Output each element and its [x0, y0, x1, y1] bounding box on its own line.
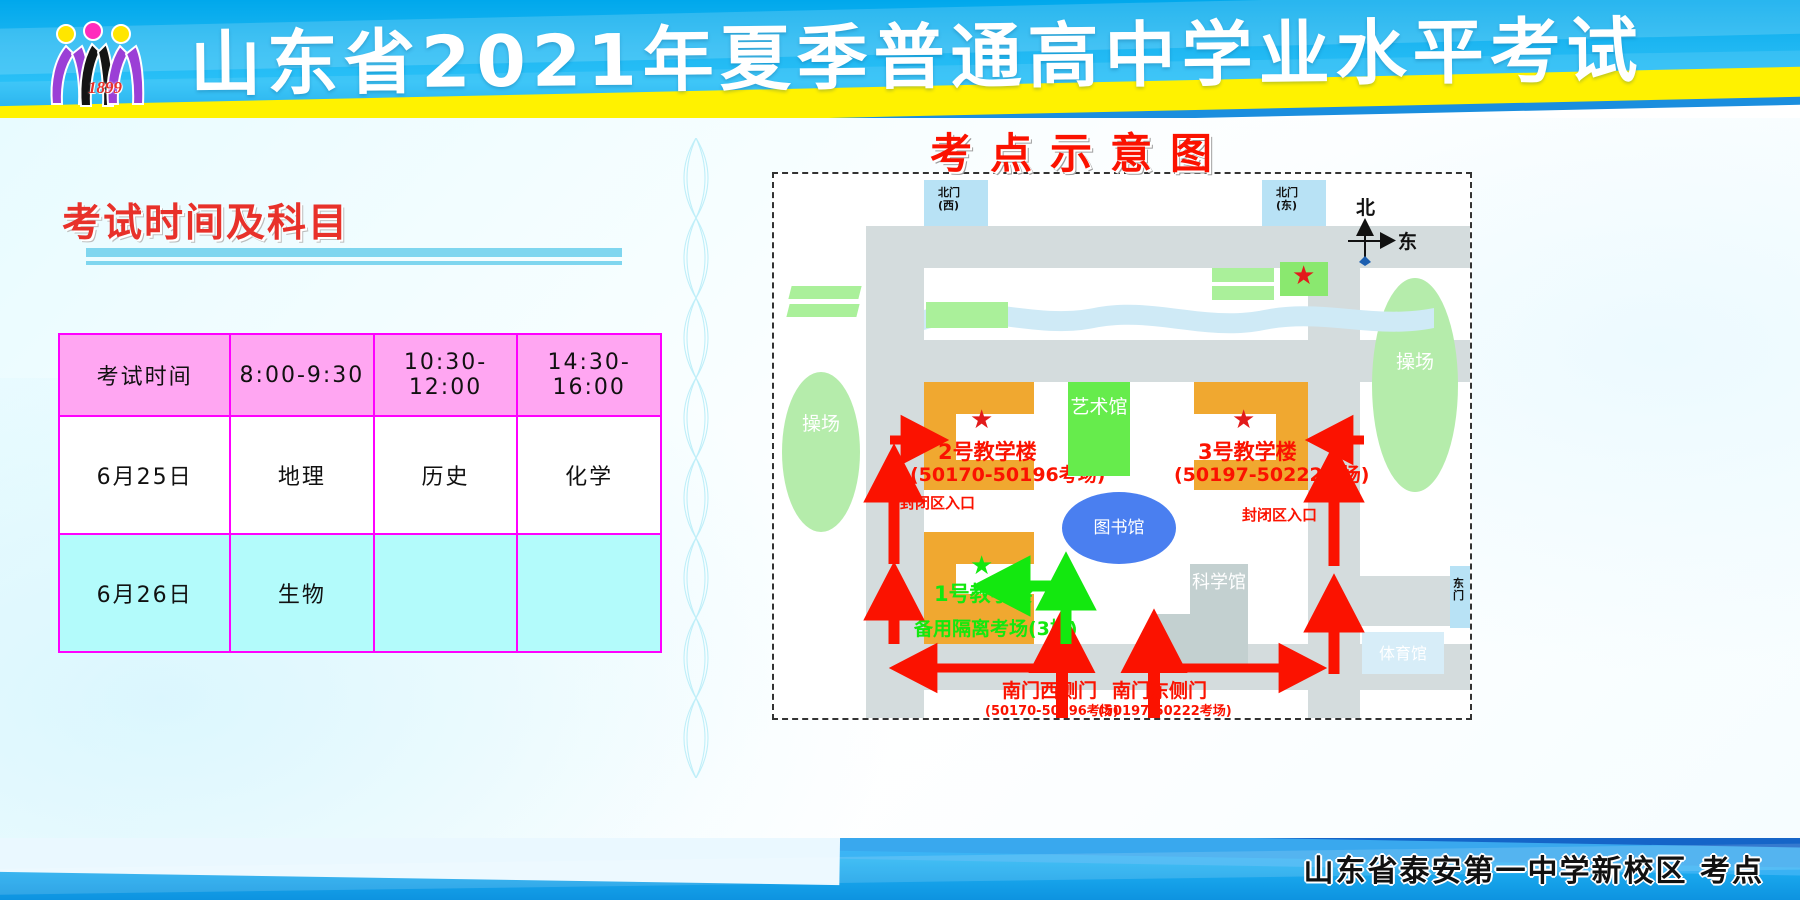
green-plot-north-2 [1212, 268, 1274, 282]
row-date-june-26: 6月26日 [59, 534, 230, 652]
header-cell-slot-1: 8:00-9:30 [230, 334, 374, 416]
science-hall-wing [1154, 614, 1212, 664]
star-icon-building-1: ★ [970, 552, 993, 578]
gate-north-west-label: 北门 (西) [938, 186, 960, 212]
campus-map: 操场 操场 ★ 北门 (西) 北门 [772, 172, 1472, 720]
header-cell-slot-3: 14:30-16:00 [517, 334, 661, 416]
map-section-title: 考点示意图 [930, 120, 1230, 181]
green-plot-north-1 [926, 302, 1008, 328]
playground-west-label: 操场 [782, 412, 860, 436]
star-icon-building-3: ★ [1232, 406, 1255, 432]
table-header-row: 考试时间 8:00-9:30 10:30-12:00 14:30-16:00 [59, 334, 661, 416]
exam-site-name: 山东省泰安第一中学新校区 考点 [1304, 846, 1764, 890]
gate-east-label: 东 门 [1453, 578, 1464, 602]
cell-june25-slot1: 地理 [230, 416, 374, 534]
science-hall-label: 科学馆 [1190, 570, 1248, 596]
map-canvas: 操场 操场 ★ 北门 (西) 北门 [774, 174, 1470, 718]
star-icon-north: ★ [1292, 262, 1315, 288]
row-date-june-25: 6月25日 [59, 416, 230, 534]
star-icon-building-2: ★ [970, 406, 993, 432]
cell-june25-slot3: 化学 [517, 416, 661, 534]
schedule-title-rule-thick [86, 248, 622, 257]
header-cell-slot-2: 10:30-12:00 [374, 334, 518, 416]
schedule-title-rule-thin [86, 261, 622, 265]
building-3-rooms: (50197-50222考场) [1174, 460, 1369, 487]
poster-footer: 山东省泰安第一中学新校区 考点 [0, 838, 1800, 900]
poster-root: 1899 山东省2021年夏季普通高中学业水平考试 考试时间及科目 考试时间 8… [0, 0, 1800, 900]
playground-east-label: 操场 [1372, 350, 1458, 374]
cell-june25-slot2: 历史 [374, 416, 518, 534]
green-strip-2 [786, 304, 859, 317]
header-cell-time-label: 考试时间 [59, 334, 230, 416]
emblem-year: 1899 [88, 78, 122, 98]
poster-header: 1899 山东省2021年夏季普通高中学业水平考试 [0, 0, 1800, 118]
exam-schedule-table: 考试时间 8:00-9:30 10:30-12:00 14:30-16:00 6… [58, 333, 662, 653]
table-row: 6月26日 生物 [59, 534, 661, 652]
compass-east-text: 东 [1398, 230, 1417, 253]
gate-south-east-label: 南门东侧门 [1112, 676, 1207, 703]
playground-west-shape [782, 372, 860, 532]
green-strip-1 [788, 286, 861, 299]
wave-divider-decoration [672, 138, 720, 778]
library-label: 图书馆 [1062, 516, 1176, 540]
gate-south-west-label: 南门西侧门 [1002, 676, 1097, 703]
cell-june26-slot3 [517, 534, 661, 652]
table-row: 6月25日 地理 历史 化学 [59, 416, 661, 534]
schedule-section-title: 考试时间及科目 [62, 192, 349, 248]
gate-north-east-label: 北门 (东) [1276, 186, 1298, 212]
green-plot-north-3 [1212, 286, 1274, 300]
closed-zone-entrance-right: 封闭区入口 [1242, 504, 1317, 525]
gym-label: 体育馆 [1362, 642, 1444, 666]
page-title: 山东省2021年夏季普通高中学业水平考试 [190, 5, 1644, 111]
compass-north-text: 北 [1356, 197, 1375, 219]
cell-june26-slot1: 生物 [230, 534, 374, 652]
art-hall-label: 艺术馆 [1068, 394, 1130, 420]
closed-zone-entrance-left: 封闭区入口 [900, 492, 975, 513]
cell-june26-slot2 [374, 534, 518, 652]
building-1-name: 1号教学楼 [934, 578, 1033, 608]
gate-south-east-rooms: (50197-50222考场) [1098, 700, 1232, 719]
compass-rose-icon: 北 东 [1324, 192, 1444, 272]
building-1-backup-room: 备用隔离考场(3楼) [914, 614, 1078, 641]
